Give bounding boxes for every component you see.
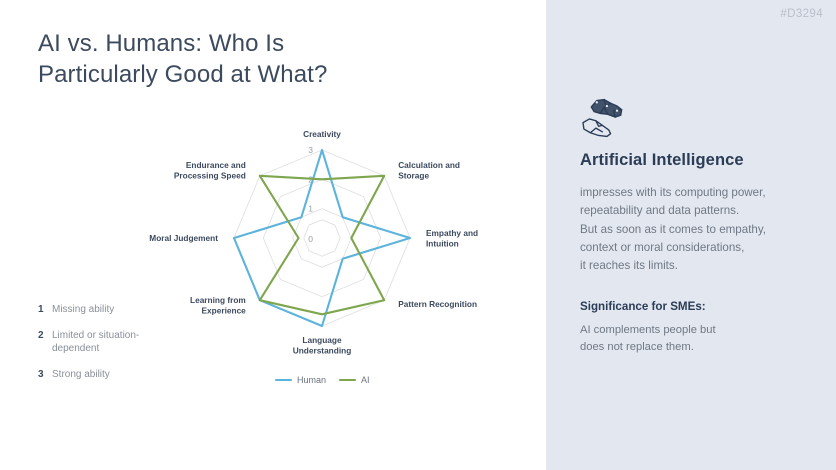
panel-subsection-body: AI complements people but does not repla…: [580, 322, 812, 357]
slide-id-code: #D3294: [780, 8, 823, 20]
legend-swatch-ai: [339, 379, 356, 381]
axis-label-1: Calculation andStorage: [398, 160, 460, 181]
scale-label: Strong ability: [52, 368, 110, 382]
legend-item-human[interactable]: Human: [275, 375, 326, 385]
tick-label-0: 0: [308, 234, 313, 244]
series-ai: [260, 176, 384, 314]
legend-label-ai: AI: [361, 375, 370, 385]
panel-subsection-title: Significance for SMEs:: [580, 300, 812, 313]
page-title: AI vs. Humans: Who Is Particularly Good …: [38, 28, 468, 90]
axis-label-2: Empathy andIntuition: [426, 228, 478, 249]
tick-label-3: 3: [308, 145, 313, 155]
legend-item-ai[interactable]: AI: [339, 375, 370, 385]
panel-title: Artificial Intelligence: [580, 151, 812, 170]
axis-label-3: Pattern Recognition: [398, 299, 477, 309]
grid-ring-2: [263, 179, 380, 296]
scale-label: Missing ability: [52, 303, 114, 317]
panel-body-text: impresses with its computing power, repe…: [580, 184, 812, 276]
axis-label-6: Moral Judgement: [149, 233, 218, 243]
axis-label-0: Creativity: [303, 129, 341, 139]
chart-legend: Human AI: [275, 375, 370, 385]
scale-number: 1: [38, 303, 52, 315]
axis-label-4: LanguageUnderstanding: [293, 335, 352, 356]
panel-content: Artificial Intelligence impresses with i…: [580, 95, 812, 276]
right-info-panel: #D3294: [546, 0, 836, 470]
ai-hand-icon: [580, 95, 812, 141]
scale-number: 2: [38, 329, 52, 341]
panel-subsection: Significance for SMEs: AI complements pe…: [580, 300, 812, 357]
tick-label-1: 1: [308, 204, 313, 214]
legend-swatch-human: [275, 379, 292, 381]
legend-label-human: Human: [297, 375, 326, 385]
radar-chart: 0123 CreativityCalculation andStorageEmp…: [120, 125, 520, 400]
axis-label-5: Learning fromExperience: [190, 295, 246, 316]
axis-label-7: Endurance andProcessing Speed: [174, 160, 246, 181]
scale-number: 3: [38, 368, 52, 380]
chart-series-lines: [234, 150, 410, 326]
slide-root: #D3294: [0, 0, 836, 470]
